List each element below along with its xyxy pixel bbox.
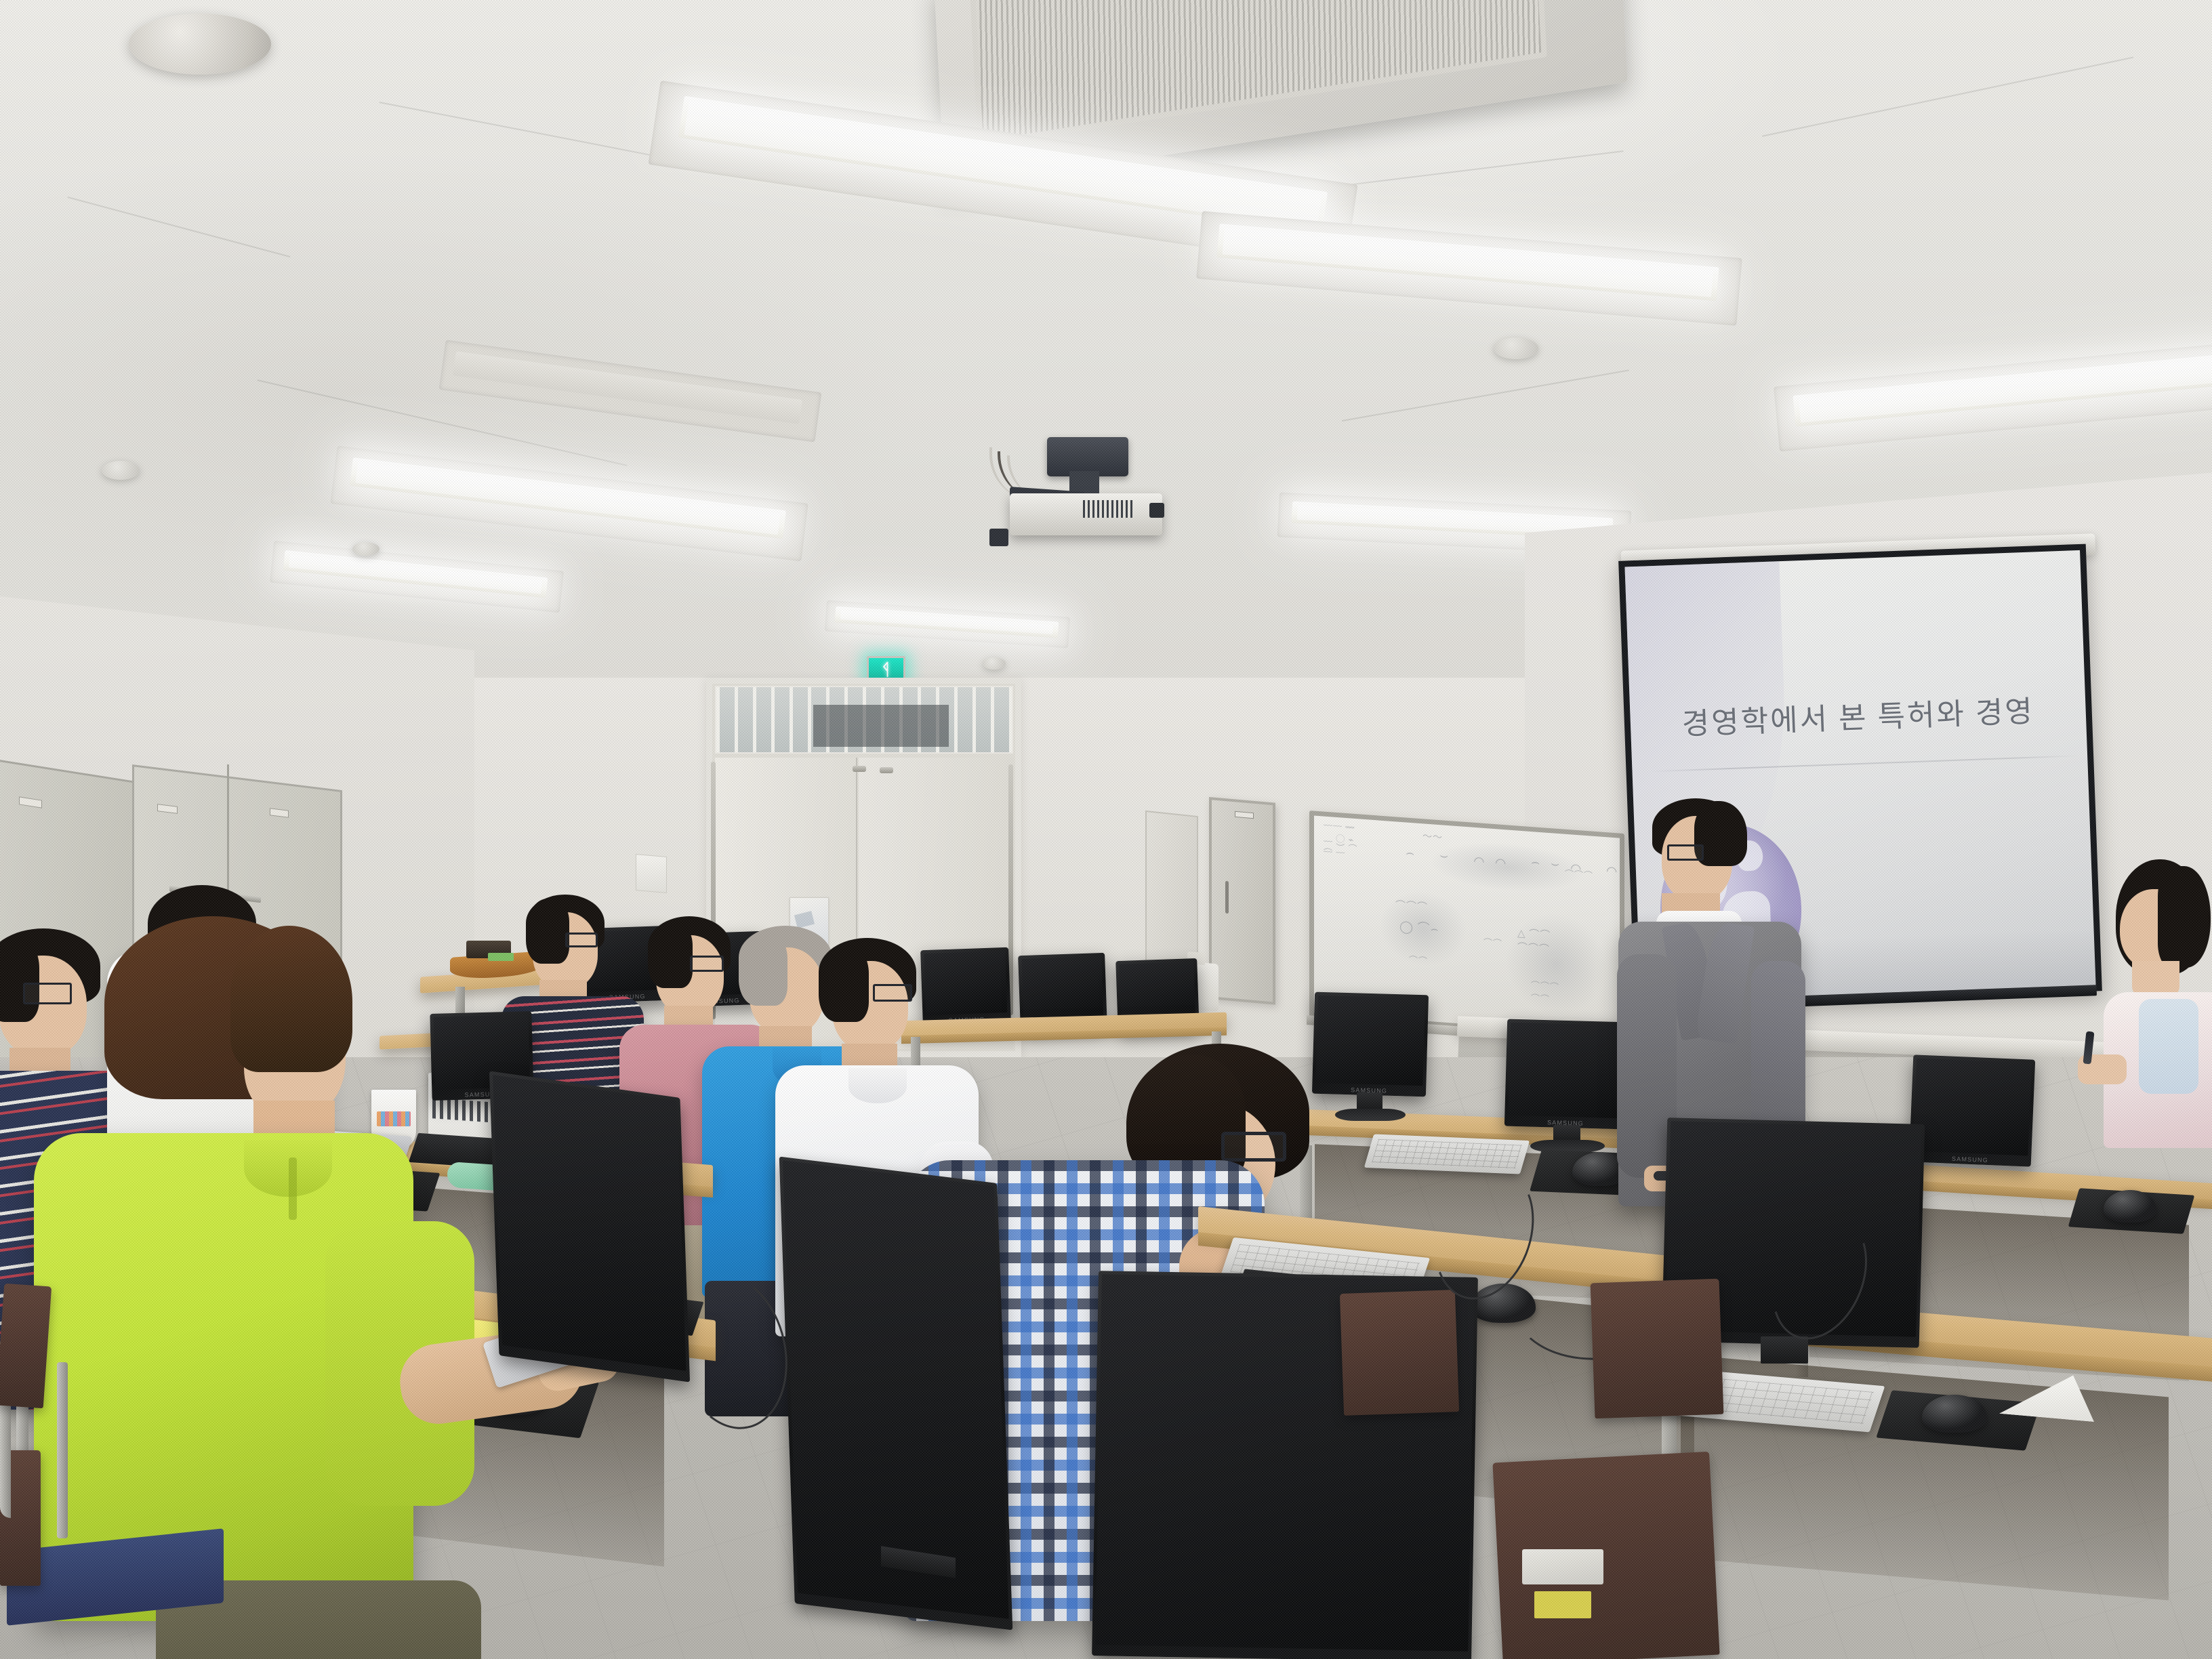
green-item [488,953,514,961]
chair-back[interactable] [1340,1290,1459,1416]
monitor: SAMSUNG [1312,992,1429,1097]
woman-inner-top [2139,999,2198,1094]
cup-pattern [377,1111,411,1126]
chair-frame [57,1362,68,1538]
mouse[interactable] [2104,1190,2156,1223]
monitor [489,1071,690,1382]
running-person-icon: ᛩ [881,662,890,678]
monitor-base [1335,1109,1406,1121]
wall-notice [636,854,667,893]
door-hinge [880,767,893,773]
ceiling-speaker-icon [129,14,271,75]
hair-side [739,933,787,1006]
glasses [1221,1132,1286,1162]
hair-side [648,922,693,988]
monitor: SAMSUNG [1909,1054,2035,1166]
monitor: SAMSUNG [920,947,1011,1026]
chair-back[interactable] [1591,1279,1724,1419]
chair-back[interactable] [0,1284,52,1408]
projector-vent-icon [1083,500,1133,518]
woman-hair-side [2158,866,2211,968]
monitor-stand [1761,1336,1808,1364]
hair-side [819,946,869,1022]
classroom-photo: ᛩ ﹋﹋ ﹌﹏ ◯ ⌁︵ ︶ ⌒﹋ ﹋ 〜〜 ⌢ ⌣ ⌒⌒ ⌢⌣⌒ ⌒ ⌒⌒⌒ … [0,0,2212,1659]
door-hinge [853,766,866,772]
keyboard[interactable] [1364,1134,1530,1174]
hair-side [0,938,39,1022]
shirt-collar [848,1068,907,1103]
polo-placket [289,1158,297,1220]
glasses [690,956,724,972]
polo-collar [244,1140,332,1197]
hair-side [526,899,569,964]
electrical-panel-handle[interactable] [1225,881,1229,914]
chair-label [1522,1549,1603,1584]
projector-lens-icon [1149,503,1164,518]
chair-sticker [1534,1591,1591,1618]
smoke-detector-icon [1494,337,1538,359]
projector-connector [989,529,1008,546]
presenter-glasses [1667,844,1704,861]
transom-dark-glass [813,705,949,747]
glasses [873,984,912,1002]
smoke-detector-icon [352,542,380,556]
monitor: SAMSUNG [1504,1019,1629,1130]
smoke-detector-icon [102,461,140,480]
smoke-detector-icon [983,657,1006,670]
glasses [23,983,72,1004]
glasses [565,933,598,947]
hair-front [230,926,352,1072]
electrical-panel[interactable] [1209,797,1275,1005]
